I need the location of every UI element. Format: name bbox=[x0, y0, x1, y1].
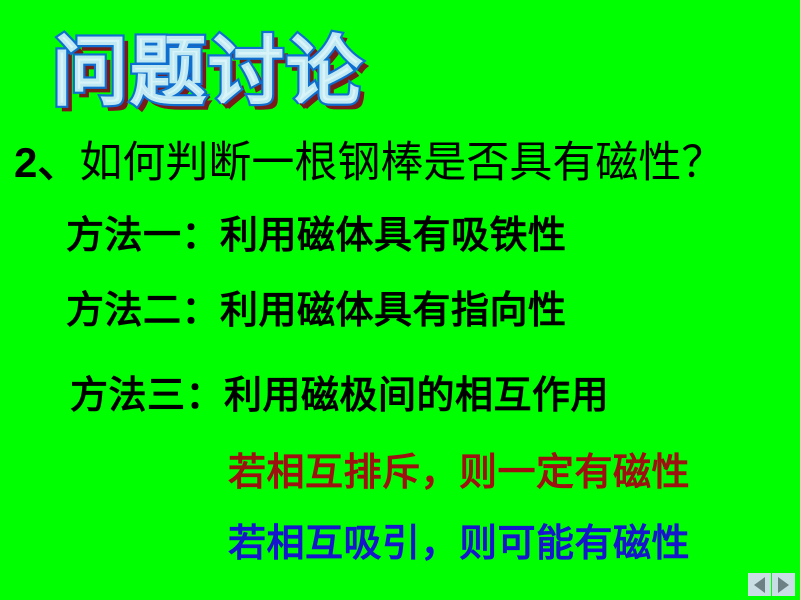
question-number: 2、 bbox=[14, 139, 79, 186]
previous-slide-button[interactable] bbox=[748, 573, 771, 596]
slide-canvas: 问题讨论 问题讨论 问题讨论 2、如何判断一根钢棒是否具有磁性？ 方法一：利用磁… bbox=[0, 0, 800, 600]
question-text: 如何判断一根钢棒是否具有磁性？ bbox=[79, 138, 724, 188]
slide-title: 问题讨论 问题讨论 问题讨论 bbox=[52, 24, 472, 124]
method-two-text: 利用磁体具有指向性 bbox=[220, 287, 567, 332]
method-one-text: 利用磁体具有吸铁性 bbox=[220, 212, 567, 257]
method-two-label: 方法二： bbox=[66, 287, 220, 332]
triangle-left-icon bbox=[754, 577, 765, 593]
conclusion-attract-line: 若相互吸引，则可能有磁性 bbox=[228, 520, 690, 566]
method-two-line: 方法二：利用磁体具有指向性 bbox=[66, 287, 567, 333]
slide-navigation bbox=[748, 573, 795, 596]
method-three-text: 利用磁极间的相互作用 bbox=[224, 372, 609, 417]
conclusion-repel-line: 若相互排斥，则一定有磁性 bbox=[228, 449, 690, 495]
method-one-line: 方法一：利用磁体具有吸铁性 bbox=[66, 212, 567, 258]
method-one-label: 方法一： bbox=[66, 212, 220, 257]
method-three-label: 方法三： bbox=[70, 372, 224, 417]
next-slide-button[interactable] bbox=[772, 573, 795, 596]
triangle-right-icon bbox=[778, 577, 789, 593]
question-line: 2、如何判断一根钢棒是否具有磁性？ bbox=[14, 136, 724, 190]
title-face-layer: 问题讨论 bbox=[52, 24, 364, 120]
method-three-line: 方法三：利用磁极间的相互作用 bbox=[70, 372, 609, 418]
